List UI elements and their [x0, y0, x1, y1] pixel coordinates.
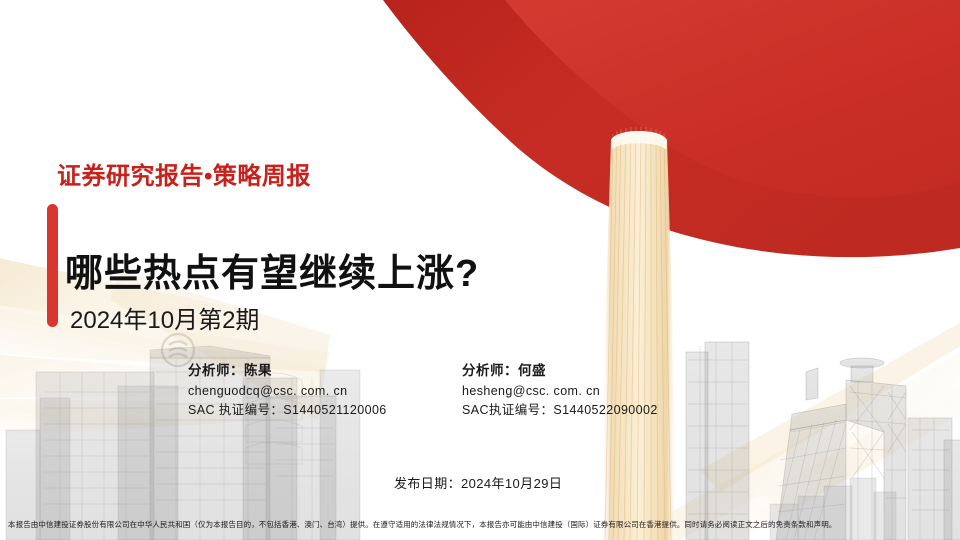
analyst-email[interactable]: chenguodcq@csc. com. cn: [188, 382, 387, 401]
title-accent-bar: [47, 204, 58, 327]
analyst-sac-number: SAC执证编号：S1440522090002: [462, 401, 658, 420]
page-title: 哪些热点有望继续上涨?: [65, 242, 479, 297]
analyst-block-secondary: 分析师：何盛 hesheng@csc. com. cn SAC执证编号：S144…: [462, 361, 658, 420]
analyst-name: 分析师：陈果: [188, 361, 387, 382]
disclaimer-footer: 本报告由中信建投证券股份有限公司在中华人民共和国（仅为本报告目的，不包括香港、澳…: [8, 519, 952, 530]
report-issue-subtitle: 2024年10月第2期: [70, 300, 259, 335]
report-cover-slide: 证券研究报告•策略周报 哪些热点有望继续上涨? 2024年10月第2期 分析师：…: [0, 0, 960, 540]
analyst-sac-number: SAC 执证编号：S1440521120006: [188, 401, 387, 420]
analyst-email[interactable]: hesheng@csc. com. cn: [462, 382, 658, 401]
report-category-kicker: 证券研究报告•策略周报: [57, 156, 311, 191]
cover-content: 证券研究报告•策略周报 哪些热点有望继续上涨? 2024年10月第2期 分析师：…: [0, 0, 960, 540]
publish-date: 发布日期：2024年10月29日: [394, 473, 562, 492]
analyst-name: 分析师：何盛: [462, 361, 658, 382]
analyst-block-primary: 分析师：陈果 chenguodcq@csc. com. cn SAC 执证编号：…: [188, 361, 387, 420]
